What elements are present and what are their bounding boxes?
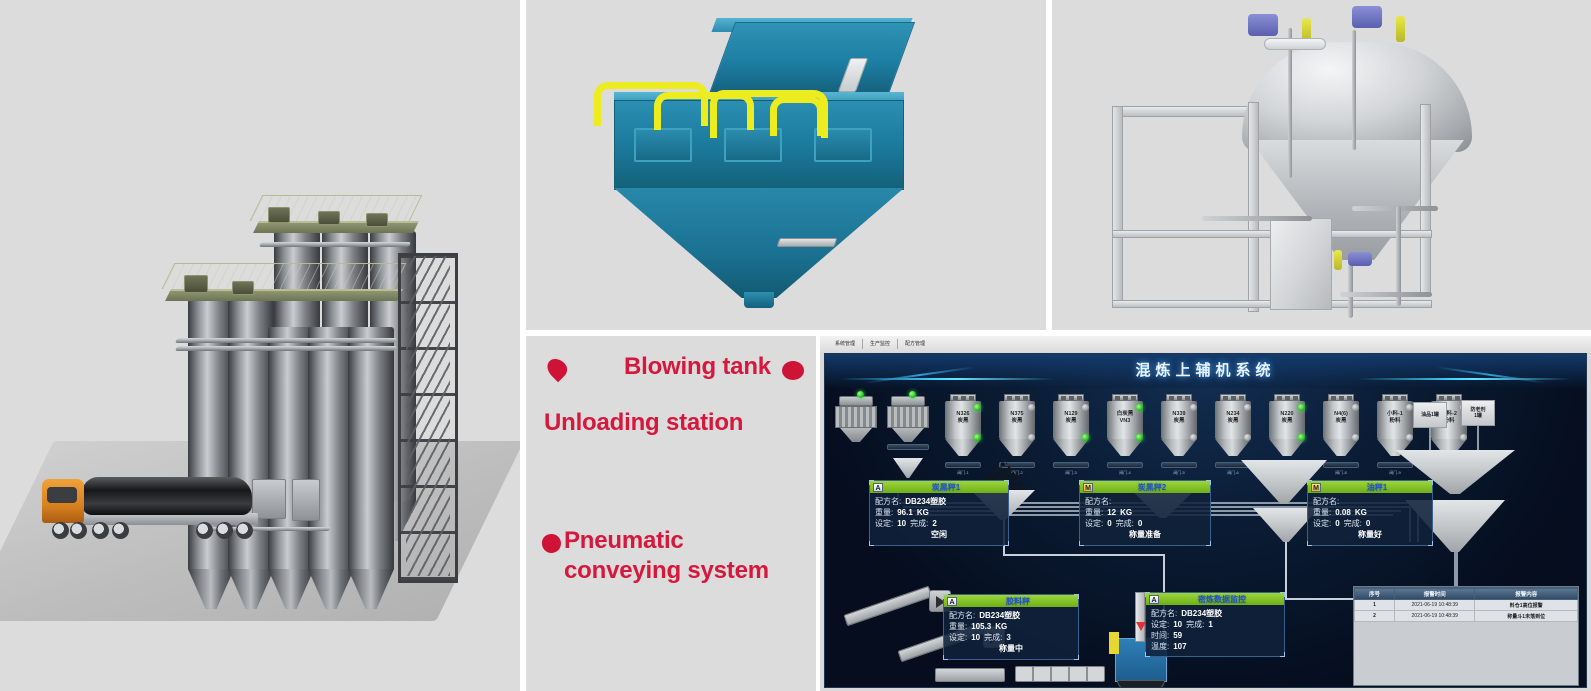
silo-cap bbox=[1274, 394, 1300, 401]
silo-valve-label: 阀门-1 bbox=[940, 470, 986, 476]
silo-code: N375 bbox=[997, 411, 1037, 418]
truck-wheel-3 bbox=[92, 522, 109, 539]
hmi-silo-6[interactable]: N234炭黑阀门-6 bbox=[1213, 394, 1253, 456]
set-key: 设定: bbox=[1313, 518, 1331, 529]
hmi-silo-7[interactable]: N220炭黑阀门-7 bbox=[1267, 394, 1307, 456]
alarm-table-row[interactable]: 22021-06-19 10:48:39称量斗1未落到位 bbox=[1355, 611, 1578, 622]
label-pneumatic-line1: Pneumatic bbox=[564, 528, 684, 555]
silo-tag: N326炭黑 bbox=[943, 411, 983, 425]
silo-valve-label: 阀门-4 bbox=[1102, 470, 1148, 476]
process-pipe-left bbox=[1202, 216, 1312, 221]
silo-cap bbox=[1112, 394, 1138, 401]
set-value: 10 bbox=[897, 518, 906, 529]
silo-level-led-low bbox=[1244, 434, 1251, 441]
hmi-silo-4[interactable]: 白炭黑VN3阀门-4 bbox=[1105, 394, 1145, 456]
pressure-vessel-dome bbox=[1242, 42, 1472, 152]
hmi-silo-5[interactable]: N339炭黑阀门-5 bbox=[1159, 394, 1199, 456]
silo-discharge-valve[interactable] bbox=[1107, 462, 1143, 468]
discharge-belt-2 bbox=[1015, 666, 1105, 682]
manway-cover bbox=[1264, 38, 1326, 50]
silo-cap bbox=[1166, 394, 1192, 401]
silo-cone bbox=[1323, 439, 1359, 456]
silo-sub: 炭黑 bbox=[1321, 418, 1361, 425]
weight-value: 105.3 bbox=[971, 621, 991, 632]
silo-level-led-high bbox=[1244, 404, 1251, 411]
silo-level-led-high bbox=[1352, 404, 1359, 411]
done-key: 完成: bbox=[984, 632, 1002, 643]
silo-level-led-low bbox=[974, 434, 981, 441]
discharge-spout bbox=[744, 292, 774, 308]
weight-key: 重量: bbox=[875, 507, 893, 518]
status-text-rubber: 称量中 bbox=[949, 643, 1073, 655]
hmi-silo-3[interactable]: N129炭黑阀门-3 bbox=[1051, 394, 1091, 456]
silo-discharge-valve[interactable] bbox=[1377, 462, 1413, 468]
silo-tag: 小料-1粉料 bbox=[1375, 411, 1415, 425]
ground-unit-3 bbox=[292, 479, 320, 521]
done-key: 完成: bbox=[910, 518, 928, 529]
weigh-tank-1: 油品1罐 bbox=[1413, 402, 1447, 428]
done-value: 0 bbox=[1366, 518, 1370, 529]
silo-sub: 炭黑 bbox=[943, 418, 983, 425]
alarm-cell-time: 2021-06-19 10:48:39 bbox=[1395, 611, 1475, 622]
silo-level-led-high bbox=[1406, 404, 1413, 411]
set-value: 10 bbox=[971, 632, 980, 643]
alarm-table-header-row: 序号 报警时间 报警内容 bbox=[1355, 588, 1578, 600]
weight-value: 0.08 bbox=[1335, 507, 1351, 518]
temp-key: 温度: bbox=[1151, 641, 1169, 652]
collector-valve-bar[interactable] bbox=[887, 444, 929, 450]
done-value: 3 bbox=[1006, 632, 1010, 643]
silo-sub: 粉料 bbox=[1375, 418, 1415, 425]
silo-valve-label: 阀门-3 bbox=[1048, 470, 1094, 476]
scale-box-oil-1[interactable]: M 油秤1 配方名: 重量:0.08KG 设定:0完成:0 称量好 bbox=[1307, 480, 1433, 546]
plant-pipe-run-1 bbox=[175, 338, 397, 343]
silo-discharge-valve[interactable] bbox=[1161, 462, 1197, 468]
label-blowing-tank: Blowing tank bbox=[624, 354, 771, 381]
access-stairs bbox=[406, 256, 450, 576]
truck-wheel-4 bbox=[112, 522, 129, 539]
process-pipe-right bbox=[1352, 206, 1438, 211]
hmi-silo-1[interactable]: N326炭黑阀门-1 bbox=[943, 394, 983, 456]
silo-valve-label: 阀门-9 bbox=[1372, 470, 1418, 476]
mode-badge-carbon-1: A bbox=[873, 483, 883, 492]
silo-code: N129 bbox=[1051, 411, 1091, 418]
silo-tag: N220炭黑 bbox=[1267, 411, 1307, 425]
silo-level-led-high bbox=[1136, 404, 1143, 411]
recipe-value: DB234塑胶 bbox=[905, 496, 946, 507]
belt-conveyor-1 bbox=[843, 586, 932, 627]
recipe-key: 配方名: bbox=[949, 610, 975, 621]
alarm-col-index: 序号 bbox=[1355, 588, 1395, 600]
vertical-feed-pipe bbox=[1352, 30, 1356, 150]
silo-tag: N234炭黑 bbox=[1213, 411, 1253, 425]
silo-cap bbox=[1436, 394, 1462, 401]
yellow-handle-2 bbox=[1396, 16, 1405, 42]
trailer-wheel-3 bbox=[236, 522, 253, 539]
alarm-table-empty-area bbox=[1354, 622, 1578, 668]
temp-value: 107 bbox=[1173, 641, 1186, 652]
access-door-1 bbox=[634, 128, 692, 162]
silo-sub: VN3 bbox=[1105, 418, 1145, 425]
silo-cone bbox=[1161, 439, 1197, 456]
scale-title-oil-1: 油秤1 bbox=[1325, 482, 1429, 493]
set-key: 设定: bbox=[1151, 619, 1169, 630]
hmi-silo-2[interactable]: N375炭黑阀门-2 bbox=[997, 394, 1037, 456]
alarm-cell-index: 2 bbox=[1355, 611, 1395, 622]
dust-collector-1 bbox=[835, 396, 877, 442]
frame-leg-front-right bbox=[1420, 104, 1431, 296]
silo-sub: 炭黑 bbox=[1159, 418, 1199, 425]
status-text-oil-1: 称量好 bbox=[1313, 529, 1427, 541]
silo-cone bbox=[1269, 439, 1305, 456]
hmi-menu-item-1[interactable]: 生产监控 bbox=[863, 339, 898, 349]
silo-code: N220 bbox=[1267, 411, 1307, 418]
silo-tag: 白炭黑VN3 bbox=[1105, 411, 1145, 425]
silo-level-led-low bbox=[1136, 434, 1143, 441]
silo-front-5 bbox=[348, 327, 394, 569]
feed-hopper bbox=[709, 22, 915, 94]
electrical-cabinet bbox=[1270, 218, 1332, 310]
mixer-drop-door bbox=[1117, 680, 1165, 688]
alarm-col-content: 报警内容 bbox=[1475, 588, 1578, 600]
silo-tag: N4(6)炭黑 bbox=[1321, 411, 1361, 425]
silo-level-led-low bbox=[1352, 434, 1359, 441]
silo-sub: 炭黑 bbox=[997, 418, 1037, 425]
upper-filter-unit-3 bbox=[366, 213, 388, 227]
silo-level-led-high bbox=[1028, 404, 1035, 411]
weight-unit: KG bbox=[917, 507, 929, 518]
silo-level-led-high bbox=[1190, 404, 1197, 411]
hmi-menu-bar[interactable]: 系统管理 生产监控 配方管理 bbox=[820, 336, 1591, 352]
done-key: 完成: bbox=[1344, 518, 1362, 529]
recipe-key: 配方名: bbox=[1151, 608, 1177, 619]
silo-cone bbox=[1215, 439, 1251, 456]
hmi-menu-item-2[interactable]: 配方管理 bbox=[898, 339, 932, 349]
frame-leg-front-left bbox=[1112, 106, 1123, 302]
silo-sub: 炭黑 bbox=[1051, 418, 1091, 425]
status-text-carbon-1: 空闲 bbox=[875, 529, 1003, 541]
set-value: 0 bbox=[1335, 518, 1339, 529]
weight-unit: KG bbox=[1120, 507, 1132, 518]
recipe-value: DB234塑胶 bbox=[979, 610, 1020, 621]
hmi-mimic-screen: 混炼上辅机系统 N326炭黑阀门-1N375炭黑阀门-2N129炭黑阀门-3白炭… bbox=[824, 353, 1587, 688]
scale-box-carbon-2[interactable]: M 炭黑秤2 配方名: 重量:12KG 设定:0完成:0 称量准备 bbox=[1079, 480, 1211, 546]
alarm-cell-content: 称量斗1未落到位 bbox=[1475, 611, 1578, 622]
alarm-cell-index: 1 bbox=[1355, 600, 1395, 611]
alarm-cell-content: 料仓1高位报警 bbox=[1475, 600, 1578, 611]
recipe-key: 配方名: bbox=[1313, 496, 1339, 507]
truck-cab bbox=[42, 479, 84, 523]
blowing-tank-render bbox=[1052, 0, 1591, 330]
discharge-belt-1 bbox=[935, 668, 1005, 682]
silo-discharge-valve[interactable] bbox=[1053, 462, 1089, 468]
recipe-value: DB234塑胶 bbox=[1181, 608, 1222, 619]
silo-cone bbox=[1053, 439, 1089, 456]
mixer-monitor-title: 密炼数据监控 bbox=[1163, 594, 1281, 605]
silo-level-led-low bbox=[1406, 434, 1413, 441]
hmi-menu-item-0[interactable]: 系统管理 bbox=[828, 339, 863, 349]
silo-cap bbox=[1382, 394, 1408, 401]
bottom-butterfly-valve bbox=[1348, 252, 1372, 266]
truck-wheel-1 bbox=[52, 522, 69, 539]
callout-labels-panel: Blowing tank Unloading station Pneumatic… bbox=[526, 336, 816, 691]
scale-title-carbon-2: 炭黑秤2 bbox=[1097, 482, 1207, 493]
set-key: 设定: bbox=[949, 632, 967, 643]
silo-storage-plant-render bbox=[0, 0, 520, 691]
tanker-vessel bbox=[82, 477, 252, 515]
weight-unit: KG bbox=[995, 621, 1007, 632]
time-value: 59 bbox=[1173, 630, 1182, 641]
yellow-guard-rail-4 bbox=[770, 96, 824, 136]
silo-level-led-low bbox=[1460, 434, 1467, 441]
silo-level-led-low bbox=[1190, 434, 1197, 441]
diamond-bullet-icon bbox=[541, 533, 562, 554]
done-key: 完成: bbox=[1116, 518, 1134, 529]
scale-title-rubber: 胶料秤 bbox=[961, 596, 1075, 607]
yellow-handle-3 bbox=[1334, 250, 1342, 270]
process-pipe-drop bbox=[1348, 260, 1353, 318]
set-key: 设定: bbox=[875, 518, 893, 529]
mode-badge-oil-1: M bbox=[1311, 483, 1321, 492]
silo-valve-label: 阀门-6 bbox=[1210, 470, 1256, 476]
vertical-probe-pipe bbox=[1288, 28, 1292, 178]
mixer-monitor-box[interactable]: A 密炼数据监控 配方名:DB234塑胶 设定:10完成:1 时间:59 温度:… bbox=[1145, 592, 1285, 657]
silo-code: N339 bbox=[1159, 411, 1199, 418]
silo-level-led-high bbox=[1298, 404, 1305, 411]
discharge-hopper-cone bbox=[614, 188, 904, 298]
recipe-key: 配方名: bbox=[875, 496, 901, 507]
label-pneumatic-line2: conveying system bbox=[564, 558, 769, 585]
status-text-carbon-2: 称量准备 bbox=[1085, 529, 1205, 541]
silo-cap bbox=[1220, 394, 1246, 401]
scale-box-rubber[interactable]: A 胶料秤 配方名:DB234塑胶 重量:105.3KG 设定:10完成:3 称… bbox=[943, 594, 1079, 660]
scale-title-carbon-1: 炭黑秤1 bbox=[887, 482, 1005, 493]
silo-code: 小料-1 bbox=[1375, 411, 1415, 418]
frame-leg-mid bbox=[1248, 102, 1259, 312]
process-pipe-bottom bbox=[1340, 292, 1432, 297]
weight-value: 96.1 bbox=[897, 507, 913, 518]
silo-tag: N129炭黑 bbox=[1051, 411, 1091, 425]
silo-tag: N375炭黑 bbox=[997, 411, 1037, 425]
silo-valve-label: 阀门-5 bbox=[1156, 470, 1202, 476]
butterfly-valve-2 bbox=[1352, 6, 1382, 28]
hmi-silo-9[interactable]: 小料-1粉料阀门-9 bbox=[1375, 394, 1415, 456]
silo-discharge-valve[interactable] bbox=[1323, 462, 1359, 468]
truck-wheel-2 bbox=[70, 522, 87, 539]
hmi-system-title: 混炼上辅机系统 bbox=[825, 359, 1586, 380]
silo-level-led-low bbox=[1298, 434, 1305, 441]
mode-badge-carbon-2: M bbox=[1083, 483, 1093, 492]
mixer-ram bbox=[1135, 592, 1145, 642]
time-key: 时间: bbox=[1151, 630, 1169, 641]
scada-hmi-screenshot: 系统管理 生产监控 配方管理 混炼上辅机系统 bbox=[820, 336, 1591, 691]
silo-sub: 炭黑 bbox=[1213, 418, 1253, 425]
weigh-tank-2: 防老剂 1罐 bbox=[1461, 400, 1495, 426]
recipe-key: 配方名: bbox=[1085, 496, 1111, 507]
weight-key: 重量: bbox=[1085, 507, 1103, 518]
unloading-station-render bbox=[526, 0, 1046, 330]
alarm-table-row[interactable]: 12021-06-19 10:48:39料仓1高位报警 bbox=[1355, 600, 1578, 611]
silo-tag: N339炭黑 bbox=[1159, 411, 1199, 425]
poster-stage: Blowing tank Unloading station Pneumatic… bbox=[0, 0, 1591, 691]
set-value: 10 bbox=[1173, 619, 1182, 630]
set-value: 0 bbox=[1107, 518, 1111, 529]
trailer-wheel-2 bbox=[216, 522, 233, 539]
silo-level-led-high bbox=[1082, 404, 1089, 411]
silo-code: N326 bbox=[943, 411, 983, 418]
silo-cap bbox=[1004, 394, 1030, 401]
lower-filter-unit-1 bbox=[184, 275, 208, 293]
weight-value: 12 bbox=[1107, 507, 1116, 518]
silo-cap bbox=[1328, 394, 1354, 401]
hmi-silo-8[interactable]: N4(6)炭黑阀门-8 bbox=[1321, 394, 1361, 456]
oval-bullet-icon bbox=[782, 361, 804, 380]
scale-box-carbon-1[interactable]: A 炭黑秤1 配方名:DB234塑胶 重量:96.1KG 设定:10完成:2 空… bbox=[869, 480, 1009, 546]
done-value: 2 bbox=[932, 518, 936, 529]
silo-valve-label: 阀门-8 bbox=[1318, 470, 1364, 476]
alarm-table[interactable]: 序号 报警时间 报警内容 12021-06-19 10:48:39料仓1高位报警… bbox=[1353, 586, 1579, 686]
done-value: 1 bbox=[1208, 619, 1212, 630]
weight-unit: KG bbox=[1355, 507, 1367, 518]
silo-cone bbox=[945, 439, 981, 456]
alarm-col-time: 报警时间 bbox=[1395, 588, 1475, 600]
lower-filter-unit-2 bbox=[232, 281, 254, 295]
mode-badge-rubber: A bbox=[947, 597, 957, 606]
upper-filter-unit-2 bbox=[318, 211, 340, 225]
silo-sub: 炭黑 bbox=[1267, 418, 1307, 425]
trailer-wheel-1 bbox=[196, 522, 213, 539]
alarm-cell-time: 2021-06-19 10:48:39 bbox=[1395, 600, 1475, 611]
vibrator-unit bbox=[777, 238, 838, 247]
silo-cone bbox=[1107, 439, 1143, 456]
silo-cap bbox=[950, 394, 976, 401]
set-key: 设定: bbox=[1085, 518, 1103, 529]
weight-key: 重量: bbox=[1313, 507, 1331, 518]
silo-cap bbox=[1058, 394, 1084, 401]
mode-badge-mixer: A bbox=[1149, 595, 1159, 604]
plant-pipe-run-2 bbox=[175, 346, 397, 351]
butterfly-valve-1 bbox=[1248, 14, 1278, 36]
label-unloading-station: Unloading station bbox=[544, 410, 743, 437]
collector-weigh-hopper bbox=[893, 458, 923, 478]
done-value: 0 bbox=[1138, 518, 1142, 529]
silo-cone bbox=[999, 439, 1035, 456]
silo-code: N234 bbox=[1213, 411, 1253, 418]
weight-key: 重量: bbox=[949, 621, 967, 632]
done-key: 完成: bbox=[1186, 619, 1204, 630]
silo-code: 白炭黑 bbox=[1105, 411, 1145, 418]
dust-collector-2 bbox=[887, 396, 929, 442]
silo-discharge-valve[interactable] bbox=[945, 462, 981, 468]
process-pipe-riser bbox=[1396, 206, 1401, 306]
teardrop-bullet-icon bbox=[543, 355, 571, 383]
plant-pipe-run-3 bbox=[259, 242, 411, 247]
mixer-indicator-yellow bbox=[1109, 632, 1119, 654]
silo-level-led-low bbox=[1028, 434, 1035, 441]
silo-code: N4(6) bbox=[1321, 411, 1361, 418]
upper-filter-unit-1 bbox=[268, 207, 290, 223]
silo-level-led-high bbox=[974, 404, 981, 411]
silo-level-led-low bbox=[1082, 434, 1089, 441]
